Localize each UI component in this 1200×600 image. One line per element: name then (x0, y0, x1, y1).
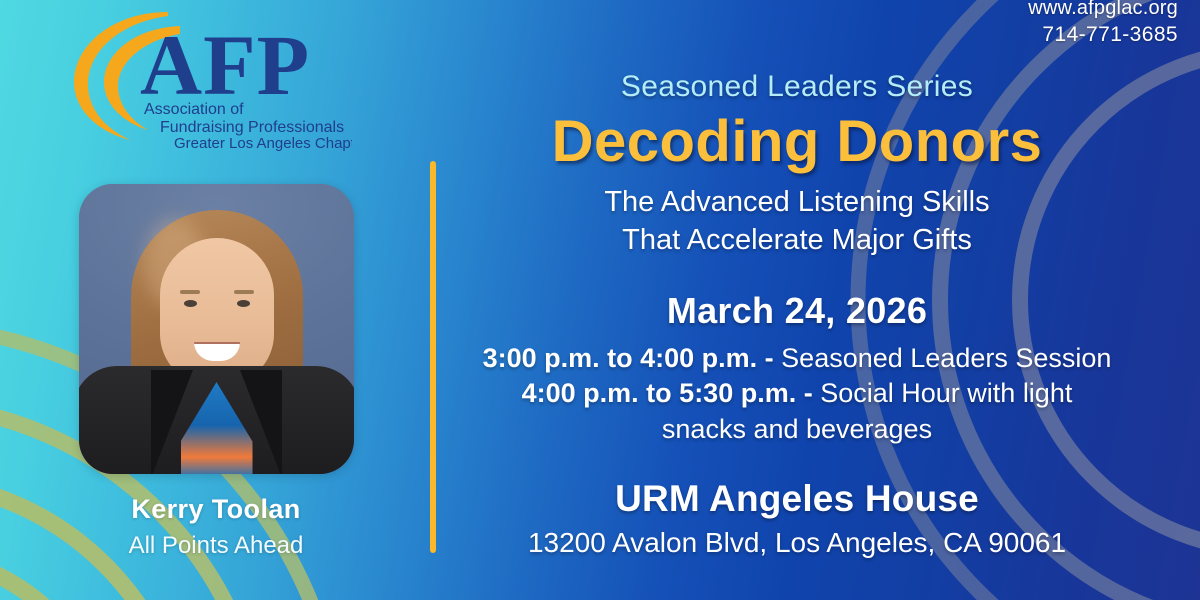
contact-info: www.afpglac.org 714-771-3685 (1028, 0, 1178, 48)
event-subtitle-line-1: The Advanced Listening Skills (460, 184, 1134, 222)
session-description-continued: snacks and beverages (460, 412, 1134, 447)
speaker-name: Kerry Toolan (0, 494, 432, 525)
speaker-organization: All Points Ahead (0, 532, 432, 560)
portrait-face (160, 238, 274, 386)
afp-logo: AFP Association of Fundraising Professio… (52, 6, 352, 151)
session-description: Seasoned Leaders Session (781, 343, 1111, 373)
schedule-row: 3:00 p.m. to 4:00 p.m. - Seasoned Leader… (460, 341, 1134, 376)
gold-divider (430, 161, 436, 553)
event-subtitle-line-2: That Accelerate Major Gifts (460, 222, 1134, 260)
speaker-portrait-image (79, 184, 354, 474)
venue-name: URM Angeles House (460, 478, 1134, 520)
portrait-brow-right (234, 290, 254, 294)
event-date: March 24, 2026 (460, 290, 1134, 332)
portrait-eye-left (184, 300, 197, 307)
logo-line-3: Greater Los Angeles Chapter (174, 135, 352, 151)
event-schedule: 3:00 p.m. to 4:00 p.m. - Seasoned Leader… (460, 341, 1134, 446)
event-subtitle: The Advanced Listening Skills That Accel… (460, 184, 1134, 259)
event-title: Decoding Donors (460, 108, 1134, 175)
portrait-brow-left (180, 290, 200, 294)
event-details: Seasoned Leaders Series Decoding Donors … (460, 70, 1134, 559)
session-description: Social Hour with light (820, 378, 1072, 408)
portrait-lapel-left (151, 370, 193, 474)
portrait-smile (194, 342, 240, 361)
speaker-caption: Kerry Toolan All Points Ahead (0, 494, 432, 560)
portrait-jacket (79, 366, 354, 474)
logo-line-2: Fundraising Professionals (160, 119, 344, 136)
schedule-row: 4:00 p.m. to 5:30 p.m. - Social Hour wit… (460, 376, 1134, 411)
event-series: Seasoned Leaders Series (460, 70, 1134, 104)
session-time: 3:00 p.m. to 4:00 p.m. - (483, 343, 774, 373)
portrait-eye-right (237, 300, 250, 307)
logo-line-1: Association of (144, 101, 244, 118)
event-banner: AFP Association of Fundraising Professio… (0, 0, 1200, 600)
venue-address: 13200 Avalon Blvd, Los Angeles, CA 90061 (460, 527, 1134, 559)
speaker-photo (79, 184, 354, 474)
website-url[interactable]: www.afpglac.org (1028, 0, 1178, 22)
phone-number[interactable]: 714-771-3685 (1028, 22, 1178, 49)
session-time: 4:00 p.m. to 5:30 p.m. - (522, 378, 813, 408)
portrait-lapel-right (240, 370, 282, 474)
logo-acronym: AFP (140, 17, 310, 113)
